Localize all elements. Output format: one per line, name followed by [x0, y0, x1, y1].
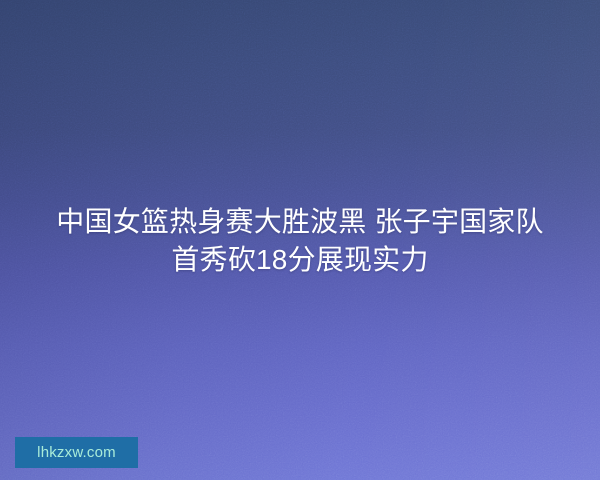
- watermark-label: lhkzxw.com: [37, 445, 116, 460]
- headline-text: 中国女篮热身赛大胜波黑 张子宇国家队 首秀砍18分展现实力: [0, 203, 600, 279]
- image-card: 中国女篮热身赛大胜波黑 张子宇国家队 首秀砍18分展现实力 lhkzxw.com: [0, 0, 600, 480]
- watermark-badge: lhkzxw.com: [15, 437, 138, 468]
